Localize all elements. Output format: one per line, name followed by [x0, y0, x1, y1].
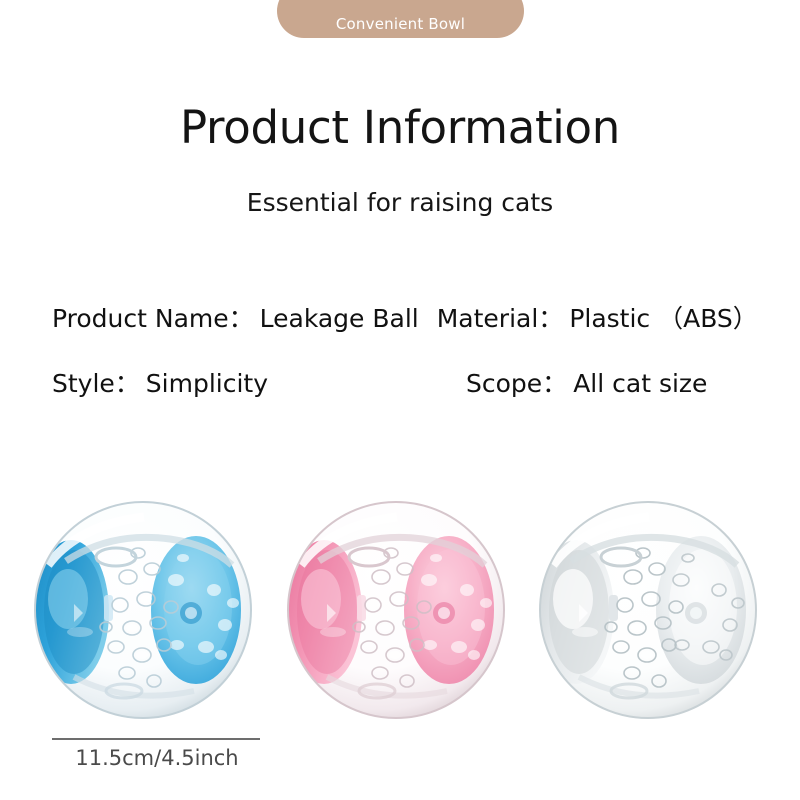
- convenient-bowl-badge: Convenient Bowl: [277, 0, 524, 38]
- spec-style: Style： Simplicity: [52, 370, 268, 399]
- page-title: Product Information: [0, 104, 800, 151]
- spec-row-style-scope: Style： Simplicity Scope： All cat size: [0, 370, 800, 399]
- measurement-callout: 11.5cm/4.5inch: [52, 738, 262, 771]
- spec-material: Material： Plastic （ABS）: [437, 305, 758, 334]
- leakage-ball-pink-illustration: [281, 495, 511, 725]
- spec-product-name-value: Leakage Ball: [260, 305, 419, 334]
- spec-scope-value: All cat size: [573, 370, 707, 399]
- measurement-label: 11.5cm/4.5inch: [52, 746, 262, 771]
- leakage-ball-clear-illustration: [533, 495, 763, 725]
- product-image-leakage-ball-blue: [28, 495, 258, 725]
- convenient-bowl-badge-label: Convenient Bowl: [336, 17, 465, 32]
- spec-product-name: Product Name： Leakage Ball: [52, 305, 419, 334]
- product-image-leakage-ball-clear: [533, 495, 763, 725]
- page-subtitle: Essential for raising cats: [0, 189, 800, 217]
- spec-style-value: Simplicity: [146, 370, 268, 399]
- leakage-ball-blue-illustration: [28, 495, 258, 725]
- spec-material-key: Material：: [437, 305, 564, 334]
- measurement-rule: [52, 738, 260, 740]
- product-image-row: [0, 495, 800, 725]
- spec-style-key: Style：: [52, 370, 140, 399]
- spec-material-value: Plastic （ABS）: [569, 305, 758, 334]
- spec-scope: Scope： All cat size: [466, 370, 707, 399]
- spec-scope-key: Scope：: [466, 370, 567, 399]
- spec-product-name-key: Product Name：: [52, 305, 254, 334]
- product-image-leakage-ball-pink: [281, 495, 511, 725]
- spec-row-product-name-material: Product Name： Leakage Ball Material： Pla…: [0, 305, 800, 334]
